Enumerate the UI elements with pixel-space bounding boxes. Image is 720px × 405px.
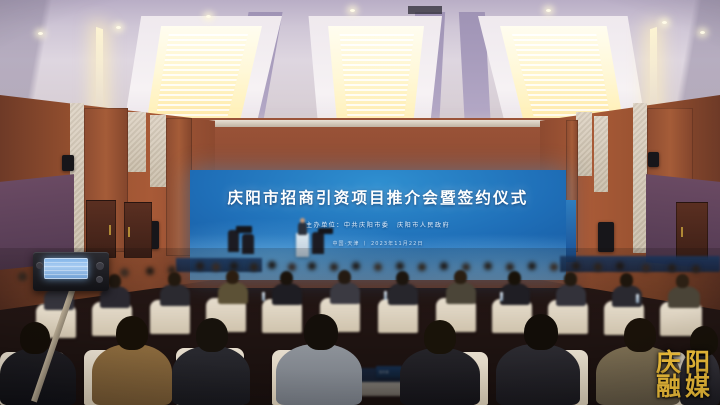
ceiling-downlight-2	[116, 26, 121, 29]
attendee-front-3	[400, 348, 480, 405]
camera-knob-right	[96, 262, 104, 270]
ceiling-downlight-3	[206, 15, 211, 18]
camera-knob-bottom	[96, 276, 103, 283]
right-wall-pilaster-2	[576, 112, 592, 176]
door-handle-icon	[128, 227, 130, 237]
stage-camera-rig-2	[318, 228, 333, 234]
door-handle-icon	[681, 227, 683, 237]
right-wall-pilaster-3	[594, 116, 608, 192]
speaker-head	[300, 218, 305, 223]
right-wall-pilaster-1	[633, 103, 647, 253]
left-wall-pilaster-2	[128, 112, 146, 172]
conference-hall-photo: 庆阳市招商引资项目推介会暨签约仪式 主办单位：中共庆阳市委 庆阳市人民政府 中国…	[0, 0, 720, 405]
door-handle-icon	[109, 225, 111, 235]
left-wall-wood-panel-2	[166, 118, 192, 256]
camera-lcd-screen	[44, 258, 88, 279]
attendee-front-1	[172, 346, 250, 405]
attendee-front-4	[496, 344, 580, 405]
attendee-front-6	[92, 344, 172, 405]
ceiling-downlight-7	[700, 31, 705, 34]
ceiling-air-vent	[408, 6, 442, 14]
stage-camera-rig-1	[236, 226, 252, 233]
ceiling-downlight-5	[546, 9, 551, 12]
event-title: 庆阳市招商引资项目推介会暨签约仪式	[190, 186, 566, 208]
ceiling-downlight-6	[662, 21, 667, 24]
camera-lcd-content	[44, 258, 88, 279]
watermark-line-2: 融媒	[656, 374, 714, 400]
ceiling-downlight-4	[350, 9, 355, 12]
speaker-at-podium	[298, 222, 307, 235]
camera-knob-left	[36, 262, 43, 269]
attendee-front-2	[276, 344, 362, 405]
broadcaster-watermark: 庆阳 融媒	[656, 350, 714, 399]
right-wall-speaker	[648, 152, 659, 167]
ceiling-downlight-1	[38, 32, 43, 35]
left-wall-pilaster-3	[150, 115, 166, 187]
left-wall-speaker	[62, 155, 74, 171]
